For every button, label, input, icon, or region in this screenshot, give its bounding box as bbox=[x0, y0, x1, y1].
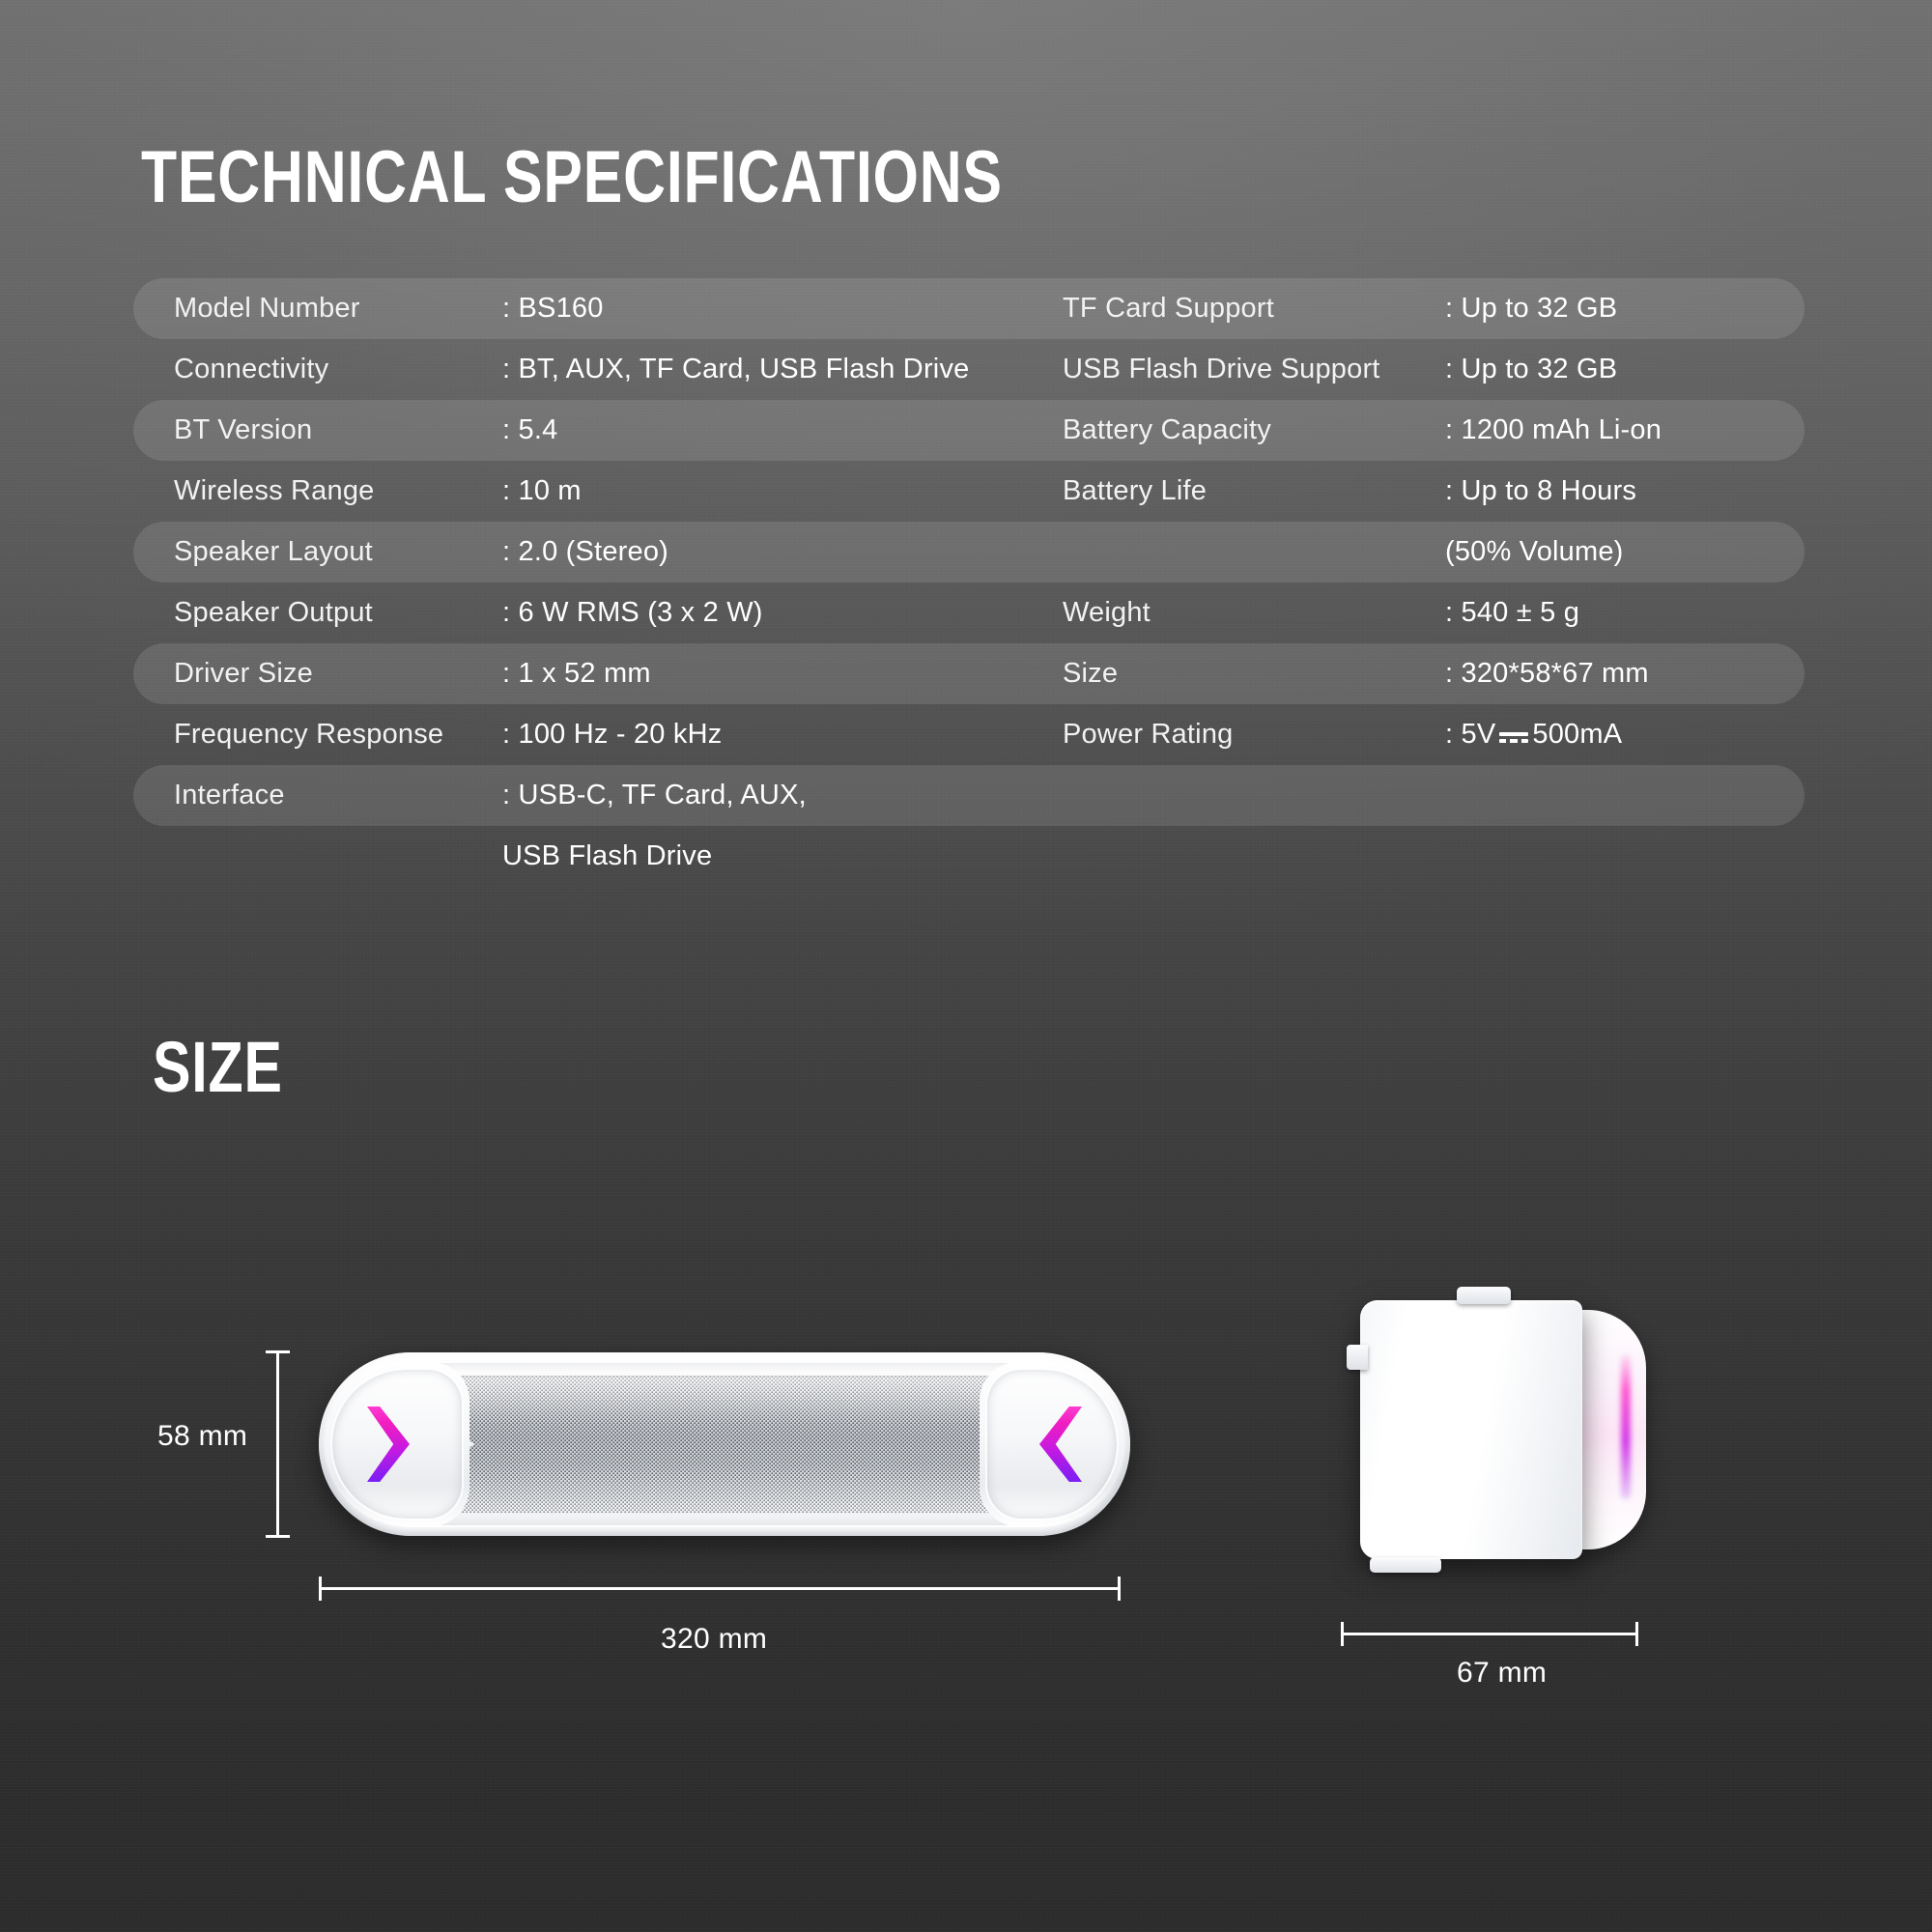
length-dimension-label: 320 mm bbox=[661, 1623, 767, 1656]
spec-label-right: Battery Capacity bbox=[1063, 414, 1271, 446]
table-row: Interface : USB-C, TF Card, AUX, bbox=[133, 765, 1804, 826]
table-row: Connectivity : BT, AUX, TF Card, USB Fla… bbox=[133, 339, 1804, 400]
depth-dimension-label: 67 mm bbox=[1457, 1657, 1547, 1690]
side-bottom-tab bbox=[1370, 1557, 1441, 1573]
spec-label-right: Power Rating bbox=[1063, 719, 1234, 751]
size-diagram bbox=[0, 1140, 1932, 1816]
table-row: Model Number : BS160 TF Card Support : U… bbox=[133, 278, 1804, 339]
spec-label-left: Driver Size bbox=[174, 658, 313, 690]
spec-value-right: : Up to 8 Hours bbox=[1445, 475, 1636, 507]
spec-label-left: Speaker Output bbox=[174, 597, 373, 629]
height-dimension-label: 58 mm bbox=[157, 1420, 247, 1453]
spec-value-left: : 10 m bbox=[502, 475, 582, 507]
spec-value-left: : 1 x 52 mm bbox=[502, 658, 651, 690]
spec-value-left: : 6 W RMS (3 x 2 W) bbox=[502, 597, 763, 629]
spec-value-right: : Up to 32 GB bbox=[1445, 293, 1617, 325]
spec-sheet-page: TECHNICAL SPECIFICATIONS Model Number : … bbox=[0, 0, 1932, 1932]
page-title: TECHNICAL SPECIFICATIONS bbox=[141, 135, 1003, 219]
table-row: Wireless Range : 10 m Battery Life : Up … bbox=[133, 461, 1804, 522]
side-body-panel bbox=[1360, 1300, 1582, 1559]
spec-value-right: : Up to 32 GB bbox=[1445, 354, 1617, 385]
table-row: USB Flash Drive bbox=[133, 826, 1804, 887]
power-suffix: 500mA bbox=[1532, 719, 1622, 750]
side-port-tab bbox=[1347, 1345, 1368, 1370]
spec-value-right-note: (50% Volume) bbox=[1445, 536, 1624, 568]
size-section-title: SIZE bbox=[153, 1026, 283, 1108]
spec-value-right: : 540 ± 5 g bbox=[1445, 597, 1579, 629]
table-row: Driver Size : 1 x 52 mm Size : 320*58*67… bbox=[133, 643, 1804, 704]
power-prefix: : 5V bbox=[1445, 719, 1495, 750]
side-top-tab bbox=[1457, 1287, 1511, 1304]
table-row: Speaker Layout : 2.0 (Stereo) (50% Volum… bbox=[133, 522, 1804, 582]
spec-value-left-continued: USB Flash Drive bbox=[502, 840, 712, 872]
spec-label-left: Wireless Range bbox=[174, 475, 375, 507]
spec-value-left: : 2.0 (Stereo) bbox=[502, 536, 668, 568]
spec-value-right: : 320*58*67 mm bbox=[1445, 658, 1649, 690]
rgb-chevron-icon bbox=[1039, 1406, 1082, 1482]
spec-label-left: BT Version bbox=[174, 414, 312, 446]
spec-value-right: : 1200 mAh Li-on bbox=[1445, 414, 1662, 446]
spec-value-left: : BS160 bbox=[502, 293, 604, 325]
spec-label-left: Interface bbox=[174, 780, 285, 811]
spec-label-right: Battery Life bbox=[1063, 475, 1207, 507]
spec-value-left: : USB-C, TF Card, AUX, bbox=[502, 780, 807, 811]
spec-value-left: : BT, AUX, TF Card, USB Flash Drive bbox=[502, 354, 969, 385]
spec-value-left: : 100 Hz - 20 kHz bbox=[502, 719, 722, 751]
spec-label-left: Speaker Layout bbox=[174, 536, 373, 568]
height-dimension-line bbox=[276, 1350, 279, 1538]
specifications-table: Model Number : BS160 TF Card Support : U… bbox=[133, 278, 1804, 887]
spec-label-right: USB Flash Drive Support bbox=[1063, 354, 1380, 385]
length-dimension-line bbox=[319, 1587, 1121, 1590]
spec-value-power-rating: : 5V500mA bbox=[1445, 719, 1622, 751]
spec-label-left: Frequency Response bbox=[174, 719, 443, 751]
spec-label-left: Model Number bbox=[174, 293, 360, 325]
soundbar-side-view bbox=[1343, 1285, 1652, 1575]
spec-value-left: : 5.4 bbox=[502, 414, 557, 446]
table-row: Frequency Response : 100 Hz - 20 kHz Pow… bbox=[133, 704, 1804, 765]
spec-label-right: Size bbox=[1063, 658, 1118, 690]
speaker-grille bbox=[427, 1376, 1022, 1513]
depth-dimension-line bbox=[1341, 1633, 1638, 1635]
dc-power-symbol-icon bbox=[1499, 727, 1528, 743]
table-row: Speaker Output : 6 W RMS (3 x 2 W) Weigh… bbox=[133, 582, 1804, 643]
spec-label-right: TF Card Support bbox=[1063, 293, 1274, 325]
rgb-chevron-icon bbox=[367, 1406, 410, 1482]
table-row: BT Version : 5.4 Battery Capacity : 1200… bbox=[133, 400, 1804, 461]
soundbar-front-view bbox=[319, 1352, 1130, 1536]
spec-label-left: Connectivity bbox=[174, 354, 328, 385]
spec-label-right: Weight bbox=[1063, 597, 1151, 629]
